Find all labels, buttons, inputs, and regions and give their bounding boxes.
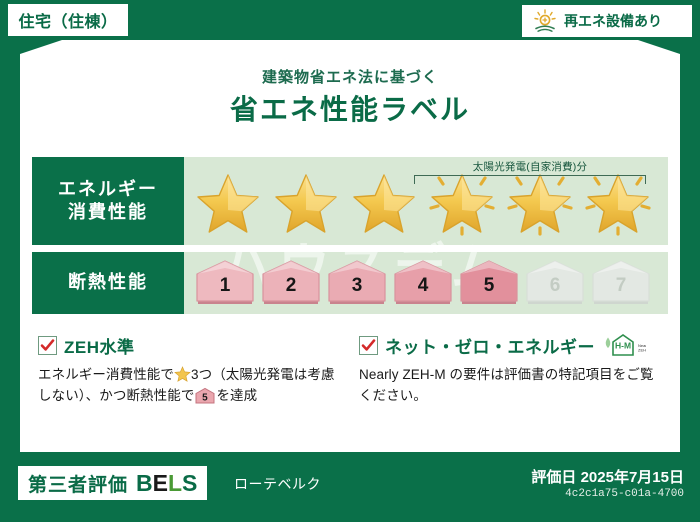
zeh-description: エネルギー消費性能で3つ（太陽光発電は考慮しない）、かつ断熱性能で5を達成 <box>38 365 341 407</box>
criteria-columns: ZEH水準 エネルギー消費性能で3つ（太陽光発電は考慮しない）、かつ断熱性能で5… <box>38 332 662 407</box>
insulation-grade-3: 3 <box>326 260 388 306</box>
insulation-grade-4: 4 <box>392 260 454 306</box>
evaluation-id: 4c2c1a75-c01a-4700 <box>565 488 684 500</box>
bels-letter-l: L <box>168 470 182 496</box>
insulation-grade-1: 1 <box>194 260 256 306</box>
star-icon <box>268 166 344 236</box>
zeh-standard-column: ZEH水準 エネルギー消費性能で3つ（太陽光発電は考慮しない）、かつ断熱性能で5… <box>38 332 341 407</box>
nze-description: Nearly ZEH-M の要件は評価書の特記項目をご覧ください。 <box>359 365 662 407</box>
solar-annotation-label: 太陽光発電(自家消費)分 <box>414 159 646 174</box>
energy-label-line2: 消費性能 <box>68 201 148 224</box>
insulation-grade-number: 5 <box>458 275 520 297</box>
insulation-grade-number: 2 <box>260 275 322 297</box>
insulation-grade-number: 7 <box>590 275 652 297</box>
zeh-heading-row: ZEH水準 <box>38 332 341 358</box>
renewable-badge-label: 再エネ設備あり <box>564 11 662 31</box>
card-subtitle: 建築物省エネ法に基づく <box>20 66 680 87</box>
sun-icon <box>532 9 558 33</box>
evaluation-date: 評価日 2025年7月15日 <box>531 466 684 487</box>
footer: 第三者評価 BELS ローテベルク 評価日 2025年7月15日 4c2c1a7… <box>0 462 700 522</box>
bels-logo: BELS <box>136 470 197 497</box>
bels-letter-s: S <box>182 470 197 496</box>
zeh-desc-part1: エネルギー消費性能で <box>38 367 174 382</box>
svg-text:5: 5 <box>203 392 209 403</box>
nze-heading-label: ネット・ゼロ・エネルギー <box>385 333 595 358</box>
solar-annotation: 太陽光発電(自家消費)分 <box>414 159 646 184</box>
energy-performance-body: 太陽光発電(自家消費)分 <box>184 157 668 245</box>
insulation-grade-6: 6 <box>524 260 586 306</box>
house-grade-icon: 5 <box>194 387 216 404</box>
renewable-equipment-badge: 再エネ設備あり <box>522 5 692 37</box>
insulation-grade-5: 5 <box>458 260 520 306</box>
net-zero-energy-column: ネット・ゼロ・エネルギー H-M Nearly ZEH-M Nearly ZEH… <box>359 332 662 407</box>
insulation-grade-number: 6 <box>524 275 586 297</box>
bels-letter-b: B <box>136 470 153 496</box>
zeh-heading-label: ZEH水準 <box>64 333 135 358</box>
nze-heading-row: ネット・ゼロ・エネルギー H-M Nearly ZEH-M <box>359 332 662 358</box>
energy-performance-row: エネルギー 消費性能 太陽光発電(自家消費)分 <box>32 157 668 245</box>
energy-label-line1: エネルギー <box>58 178 158 201</box>
insulation-label-text: 断熱性能 <box>68 271 148 294</box>
insulation-grade-number: 3 <box>326 275 388 297</box>
insulation-grade-number: 4 <box>392 275 454 297</box>
check-icon <box>359 336 378 355</box>
company-name: ローテベルク <box>234 474 321 494</box>
star-icon <box>174 366 191 382</box>
insulation-grade-7: 7 <box>590 260 652 306</box>
energy-performance-label: エネルギー 消費性能 <box>32 157 184 245</box>
insulation-performance-body: 1234567 <box>184 252 668 314</box>
label-card: 建築物省エネ法に基づく 省エネ性能ラベル ハウスデム エネルギー 消費性能 太陽… <box>20 40 680 452</box>
insulation-grade-number: 1 <box>194 275 256 297</box>
star-icon <box>190 166 266 236</box>
check-icon <box>38 336 57 355</box>
zeh-desc-part3: を達成 <box>216 388 257 403</box>
insulation-performance-label: 断熱性能 <box>32 252 184 314</box>
svg-text:H-M: H-M <box>615 341 631 351</box>
bels-badge: 第三者評価 BELS <box>18 466 207 500</box>
insulation-grade-2: 2 <box>260 260 322 306</box>
insulation-grade-scale: 1234567 <box>184 260 652 306</box>
bels-jp-label: 第三者評価 <box>28 470 128 497</box>
building-type-badge: 住宅（住棟） <box>8 4 128 36</box>
top-bar: 住宅（住棟） 再エネ設備あり <box>0 0 700 44</box>
bels-letter-e: E <box>153 470 168 496</box>
svg-text:ZEH-M: ZEH-M <box>638 348 646 353</box>
star-icon <box>346 166 422 236</box>
nearly-zeh-m-logo-icon: H-M Nearly ZEH-M <box>602 332 646 358</box>
solar-annotation-bracket <box>414 175 646 184</box>
page-title: 省エネ性能ラベル <box>20 88 680 128</box>
insulation-performance-row: 断熱性能 1234567 <box>32 252 668 314</box>
